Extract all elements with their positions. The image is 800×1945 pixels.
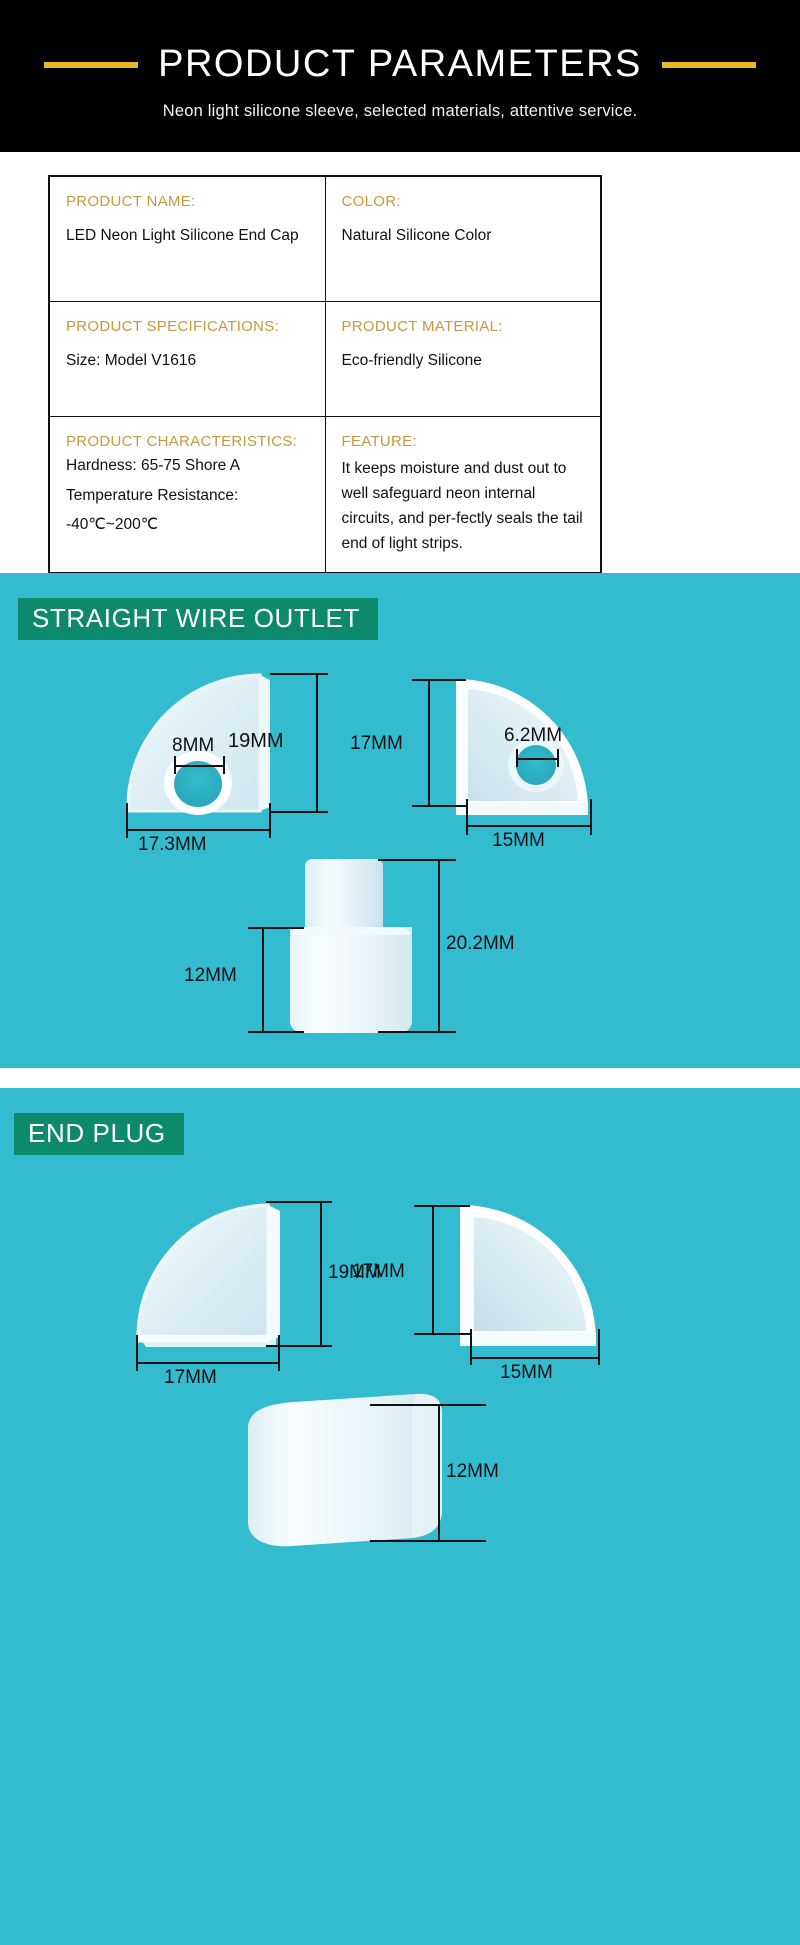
dim-label-total-height: 20.2MM (446, 933, 515, 955)
figure-quarter-round-back-with-hole: 17MM 6.2MM 15MM (420, 653, 650, 853)
figure-quarter-round-hollow-back: 17MM 15MM (430, 1183, 660, 1383)
dim-line-height (432, 1205, 434, 1335)
dim-tick-body-top (248, 927, 304, 929)
dim-tick-width-right (278, 1335, 280, 1371)
title-rule-left (44, 62, 138, 68)
dim-label-height: 17MM (352, 1261, 405, 1283)
quarter-round-hollow-illustration (430, 1183, 660, 1383)
dim-tick-bottom (266, 1345, 332, 1347)
dim-tick-bottom (412, 805, 466, 807)
cell-value-temperature-range: -40℃~200℃ (66, 515, 311, 536)
cell-value: Size: Model V1616 (66, 351, 311, 372)
figure-quarter-round-solid-front: 19MM 17MM (120, 1183, 350, 1383)
section-straight-wire-outlet: STRAIGHT WIRE OUTLET 19MM (0, 573, 800, 1068)
dim-line-height (320, 1201, 322, 1347)
cell-color: COLOR: Natural Silicone Color (325, 177, 601, 302)
quarter-round-front-illustration (110, 653, 340, 853)
dim-tick-width-left (466, 799, 468, 835)
cell-label: COLOR: (342, 193, 587, 210)
dim-tick-total-bottom (378, 1031, 456, 1033)
cell-value-hardness: Hardness: 65-75 Shore A (66, 456, 311, 477)
dim-line-height (316, 673, 318, 813)
dim-line-width (126, 829, 270, 831)
cell-value: Eco-friendly Silicone (342, 351, 587, 372)
dim-label-body-height: 12MM (184, 965, 237, 987)
dim-tick-top (266, 1201, 332, 1203)
table-row: PRODUCT SPECIFICATIONS: Size: Model V161… (50, 302, 601, 417)
dim-label-height: 19MM (228, 730, 284, 753)
cell-label: PRODUCT SPECIFICATIONS: (66, 318, 311, 335)
cell-feature: FEATURE: It keeps moisture and dust out … (325, 417, 601, 575)
dim-line-height (428, 679, 430, 807)
specification-table: PRODUCT NAME: LED Neon Light Silicone En… (48, 175, 602, 573)
quarter-round-solid-illustration (120, 1183, 350, 1383)
dim-tick-width-right (269, 803, 271, 838)
quarter-round-back-illustration (420, 653, 650, 853)
dim-tick-top (270, 673, 328, 675)
section-end-plug: END PLUG 19MM 17MM (0, 1088, 800, 1945)
figure-quarter-round-front-with-hole: 19MM 8MM 17.3MM (110, 653, 340, 853)
dim-tick-top (412, 679, 466, 681)
dim-line-width (470, 1357, 599, 1359)
dim-label-hole: 6.2MM (504, 725, 562, 747)
cell-value: LED Neon Light Silicone End Cap (66, 226, 311, 247)
section-badge-straight-wire-outlet: STRAIGHT WIRE OUTLET (18, 598, 378, 640)
cell-value-temperature-label: Temperature Resistance: (66, 486, 311, 507)
dim-line-width (466, 825, 591, 827)
table-row: PRODUCT NAME: LED Neon Light Silicone En… (50, 177, 601, 302)
title-rule-right (662, 62, 756, 68)
cell-label: FEATURE: (342, 433, 587, 450)
dim-line-width (136, 1362, 279, 1364)
cell-value: It keeps moisture and dust out to well s… (342, 456, 587, 556)
dim-label-width: 15MM (500, 1362, 553, 1384)
dim-line-body-height (262, 927, 264, 1033)
cell-label: PRODUCT CHARACTERISTICS: (66, 433, 311, 450)
dim-tick-bottom (370, 1540, 486, 1542)
cell-product-characteristics: PRODUCT CHARACTERISTICS: Hardness: 65-75… (50, 417, 326, 575)
figure-end-cap-with-wire-stem: 20.2MM 12MM (230, 843, 530, 1043)
end-plug-perspective-illustration (230, 1388, 530, 1578)
cell-label: PRODUCT NAME: (66, 193, 311, 210)
title-row: PRODUCT PARAMETERS (44, 43, 756, 86)
dim-line-total-height (438, 859, 440, 1033)
dim-line-hole (174, 765, 224, 767)
dim-label-height: 12MM (446, 1461, 499, 1483)
cell-product-specifications: PRODUCT SPECIFICATIONS: Size: Model V161… (50, 302, 326, 417)
dim-tick-width-left (136, 1335, 138, 1371)
cell-product-material: PRODUCT MATERIAL: Eco-friendly Silicone (325, 302, 601, 417)
dim-line-height (438, 1404, 440, 1542)
dim-label-width: 17MM (164, 1367, 217, 1389)
cell-product-name: PRODUCT NAME: LED Neon Light Silicone En… (50, 177, 326, 302)
dim-tick-bottom (270, 811, 328, 813)
dim-tick-width-left (470, 1329, 472, 1365)
dim-tick-top (414, 1205, 470, 1207)
dim-label-height: 17MM (350, 733, 403, 755)
dim-line-hole (516, 758, 558, 760)
dim-tick-bottom (414, 1333, 470, 1335)
dim-tick-top (370, 1404, 486, 1406)
dim-label-width: 17.3MM (138, 834, 207, 856)
figure-end-plug-perspective: 12MM (230, 1388, 530, 1578)
page-subtitle: Neon light silicone sleeve, selected mat… (163, 102, 638, 121)
section-badge-end-plug: END PLUG (14, 1113, 184, 1155)
dim-tick-body-bottom (248, 1031, 304, 1033)
page-title: PRODUCT PARAMETERS (158, 43, 642, 86)
page-header: PRODUCT PARAMETERS Neon light silicone s… (0, 0, 800, 152)
dim-tick-width-right (598, 1329, 600, 1365)
dim-label-hole: 8MM (172, 735, 214, 757)
dim-tick-total-top (378, 859, 456, 861)
cell-value: Natural Silicone Color (342, 226, 587, 247)
dim-tick-width-right (590, 799, 592, 835)
table-row: PRODUCT CHARACTERISTICS: Hardness: 65-75… (50, 417, 601, 575)
dim-tick-width-left (126, 803, 128, 838)
cell-label: PRODUCT MATERIAL: (342, 318, 587, 335)
